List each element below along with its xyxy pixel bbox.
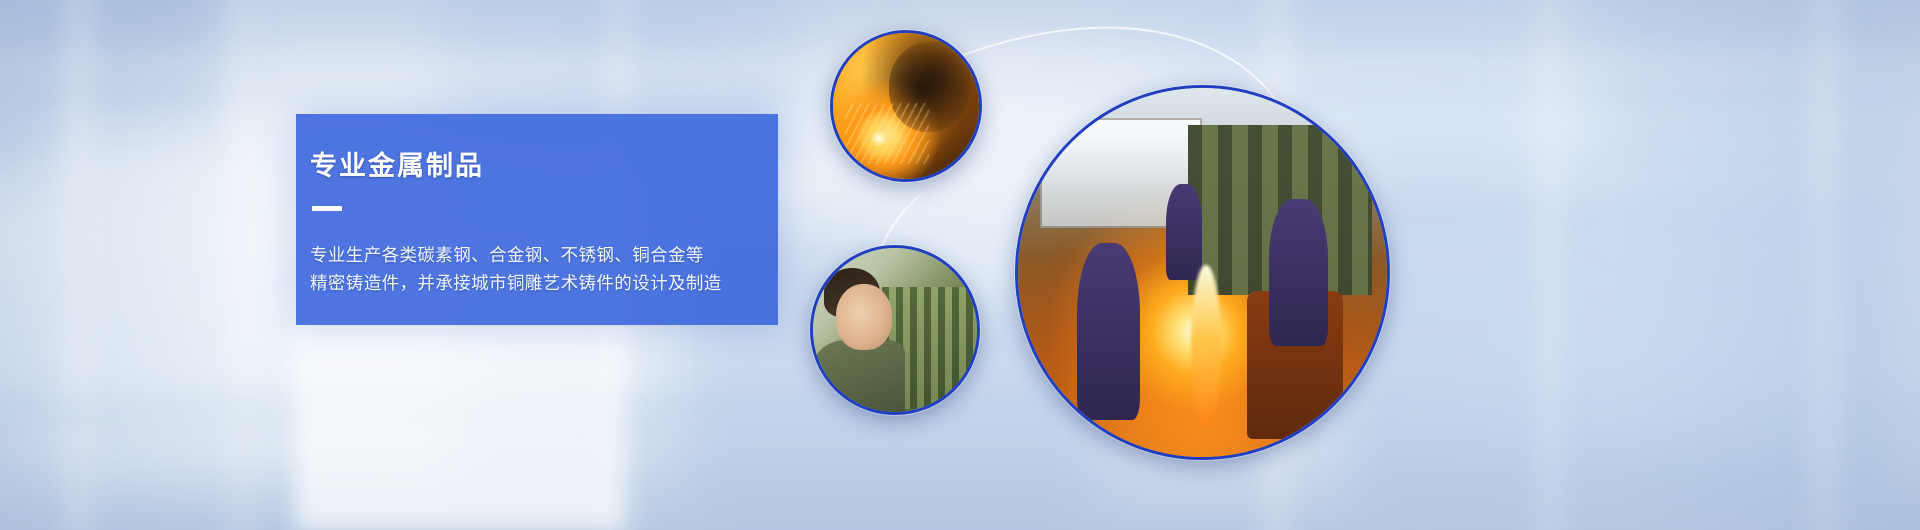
foundry-worker-shape <box>1077 243 1140 420</box>
molten-metal-pour-shape <box>1191 265 1221 427</box>
subtitle-line-1: 专业生产各类碳素钢、合金钢、不锈钢、铜合金等 <box>310 241 778 269</box>
subtitle-text: 专业生产各类碳素钢、合金钢、不锈钢、铜合金等 精密铸造件，并承接城市铜雕艺术铸件… <box>310 241 778 298</box>
foundry-worker-shape <box>1269 199 1328 347</box>
worker-torso-shape <box>813 340 905 415</box>
caption-box: 专业金属制品 专业生产各类碳素钢、合金钢、不锈钢、铜合金等 精密铸造件，并承接城… <box>296 114 778 325</box>
foundry-worker-shape <box>1166 184 1203 280</box>
welder-sparks-photo <box>830 30 982 182</box>
photo-cluster <box>800 0 1920 530</box>
worker-assembly-photo <box>810 245 980 415</box>
page-title: 专业金属制品 <box>310 152 778 182</box>
worker-face-shape <box>836 284 892 350</box>
title-divider-rule <box>312 206 342 211</box>
foundry-pour-photo <box>1015 85 1390 460</box>
hero-banner: 专业金属制品 专业生产各类碳素钢、合金钢、不锈钢、铜合金等 精密铸造件，并承接城… <box>0 0 1920 530</box>
subtitle-line-2: 精密铸造件，并承接城市铜雕艺术铸件的设计及制造 <box>310 269 778 297</box>
welding-sparks-shape <box>845 103 930 164</box>
